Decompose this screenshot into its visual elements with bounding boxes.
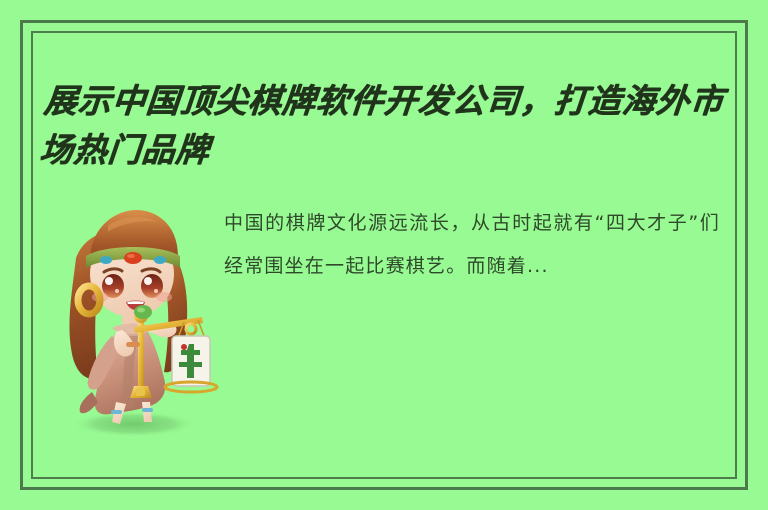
eye-left-glint (115, 289, 119, 293)
anklet-left (111, 410, 122, 414)
skirt-flick (80, 392, 98, 413)
mascot-illustration (42, 196, 220, 438)
eye-right-glint (154, 289, 158, 293)
blush-right (156, 292, 172, 302)
eye-left-highlight (105, 277, 113, 285)
scale-ring (186, 324, 196, 334)
mouth-teeth (127, 301, 144, 304)
article-excerpt: 中国的棋牌文化源远流长，从古时起就有“四大才子”们经常围坐在一起比赛棋艺。而随着… (224, 202, 720, 288)
bracelet (126, 342, 140, 347)
headband-gem-right (154, 256, 166, 264)
scale-pan-lip (165, 382, 217, 392)
scale-jade-shine (137, 308, 145, 313)
anklet-right (142, 408, 153, 412)
page-title: 展示中国顶尖棋牌软件开发公司，打造海外市场热门品牌 (37, 78, 736, 176)
eye-right-highlight (144, 277, 152, 285)
headband-gem-left (100, 256, 112, 264)
headband-gem-center-shine (127, 254, 135, 258)
scale-base-gem (136, 388, 145, 396)
article-card: 展示中国顶尖棋牌软件开发公司，打造海外市场热门品牌 中国的棋牌文化源远流长，从古… (0, 0, 768, 510)
mahjong-tile-dot (181, 344, 187, 350)
figure-shadow (72, 411, 196, 437)
headband-gem-center (124, 252, 142, 264)
